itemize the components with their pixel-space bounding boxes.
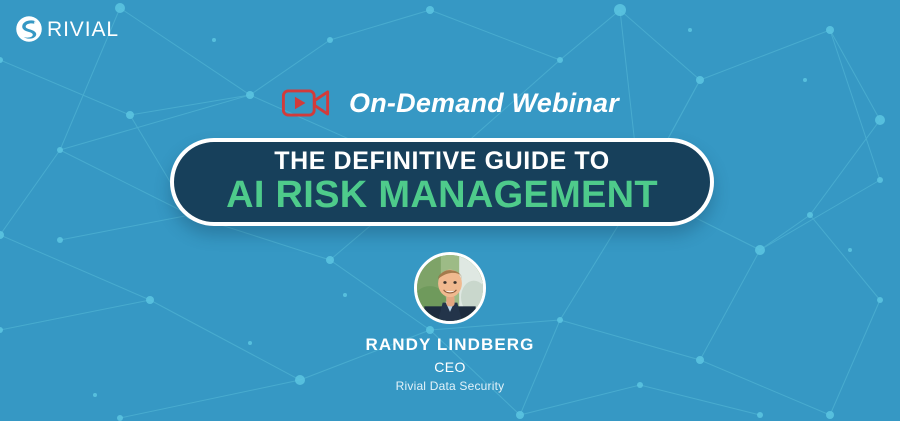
speaker-avatar — [414, 252, 486, 324]
video-camera-icon — [281, 86, 331, 120]
speaker-headshot-image — [417, 255, 483, 321]
title-card: THE DEFINITIVE GUIDE TO AI RISK MANAGEME… — [170, 138, 714, 226]
webinar-badge-label: On-Demand Webinar — [349, 90, 619, 117]
title-card-wrapper: THE DEFINITIVE GUIDE TO AI RISK MANAGEME… — [170, 138, 714, 226]
title-line-1: THE DEFINITIVE GUIDE TO — [274, 148, 610, 174]
rivial-globe-swoosh-icon — [14, 14, 44, 44]
title-line-2: AI RISK MANAGEMENT — [226, 175, 658, 216]
speaker-block: RANDY LINDBERG CEO Rivial Data Security — [0, 252, 900, 393]
speaker-name: RANDY LINDBERG — [365, 336, 534, 355]
rivial-logo[interactable]: RIVIAL — [14, 14, 119, 44]
rivial-logo-text: RIVIAL — [47, 19, 119, 40]
webinar-banner: RIVIAL On-Demand Webinar THE DEFINITIVE … — [0, 0, 900, 421]
speaker-role: CEO — [434, 360, 466, 375]
webinar-badge: On-Demand Webinar — [0, 86, 900, 120]
speaker-organization: Rivial Data Security — [396, 380, 505, 393]
